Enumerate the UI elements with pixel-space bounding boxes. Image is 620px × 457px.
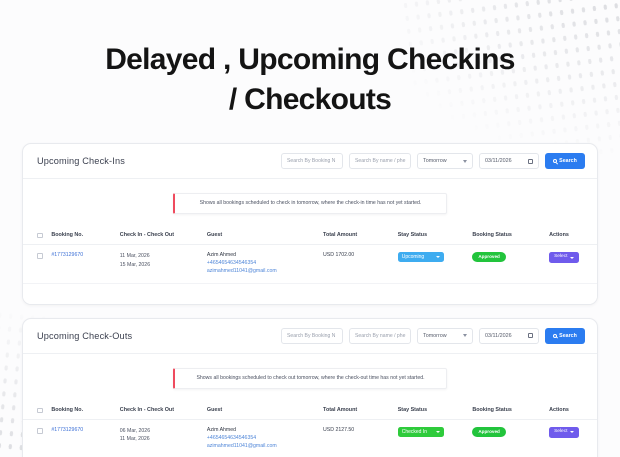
cell-booking-status: Approved	[468, 245, 545, 283]
calendar-icon	[528, 333, 533, 338]
card-footer	[23, 284, 597, 304]
search-name-input[interactable]: Search By name / phe	[349, 328, 411, 344]
card-header: Upcoming Check-Outs Search By Booking N …	[23, 319, 597, 354]
table-row: #1773129670 06 Mar, 2026 11 Mar, 2026 Az…	[23, 420, 597, 457]
table-head: Booking No. Check In - Check Out Guest T…	[23, 401, 597, 420]
info-note: Shows all bookings scheduled to check in…	[173, 193, 447, 214]
note-wrapper: Shows all bookings scheduled to check ou…	[23, 354, 597, 401]
calendar-icon	[528, 159, 533, 164]
cell-stay-status: Upcoming	[394, 245, 469, 283]
column-booking-status: Booking Status	[468, 226, 545, 245]
range-select[interactable]: Tomorrow	[417, 328, 473, 344]
cell-booking-no: #1773129670	[47, 245, 115, 283]
guest-name: Azim Ahmed	[207, 427, 315, 435]
bookings-table: Booking No. Check In - Check Out Guest T…	[23, 401, 597, 457]
guest-email[interactable]: azimahmed11041@gmail.com	[207, 268, 315, 276]
cell-guest: Azim Ahmed +4654654634546354 azimahmed11…	[203, 245, 319, 283]
date-input-value: 03/11/2026	[485, 333, 512, 339]
status-badge: Approved	[472, 427, 505, 437]
column-booking-status: Booking Status	[468, 401, 545, 420]
info-note: Shows all bookings scheduled to check ou…	[173, 368, 447, 389]
table-header-row: Booking No. Check In - Check Out Guest T…	[23, 226, 597, 245]
select-all-header	[23, 226, 47, 245]
stay-status-select[interactable]: Upcoming	[398, 252, 444, 262]
cell-dates: 11 Mar, 2026 15 Mar, 2026	[116, 245, 203, 283]
actions-select-label: Select	[554, 430, 567, 435]
row-checkbox[interactable]	[37, 253, 43, 259]
search-button[interactable]: Search	[545, 328, 585, 344]
column-stay-status: Stay Status	[394, 401, 469, 420]
row-select-cell	[23, 420, 47, 457]
chevron-down-icon	[436, 256, 440, 258]
booking-no-link[interactable]: #1773129670	[51, 427, 83, 433]
check-in-date: 06 Mar, 2026	[120, 427, 199, 435]
table-row: #1773129670 11 Mar, 2026 15 Mar, 2026 Az…	[23, 245, 597, 283]
select-all-checkbox[interactable]	[37, 408, 43, 414]
column-guest: Guest	[203, 226, 319, 245]
cell-actions: Select	[545, 420, 597, 457]
card-title: Upcoming Check-Outs	[37, 331, 132, 341]
column-actions: Actions	[545, 226, 597, 245]
row-select-cell	[23, 245, 47, 283]
select-all-header	[23, 401, 47, 420]
cell-total-amount: USD 2127.50	[319, 420, 394, 457]
stay-status-label: Upcoming	[402, 255, 425, 260]
card-upcoming-check-outs: Upcoming Check-Outs Search By Booking N …	[22, 318, 598, 457]
search-button[interactable]: Search	[545, 153, 585, 169]
search-button-label: Search	[559, 158, 577, 164]
range-select[interactable]: Tomorrow	[417, 153, 473, 169]
hero-section: Delayed , Upcoming Checkins / Checkouts	[0, 0, 620, 129]
chevron-down-icon	[436, 431, 440, 433]
column-booking-no: Booking No.	[47, 226, 115, 245]
card-toolbar: Search By Booking N Search By name / phe…	[281, 328, 585, 344]
range-select-value: Tomorrow	[423, 333, 447, 339]
column-total-amount: Total Amount	[319, 226, 394, 245]
guest-name: Azim Ahmed	[207, 252, 315, 260]
search-booking-input[interactable]: Search By Booking N	[281, 153, 343, 169]
cell-dates: 06 Mar, 2026 11 Mar, 2026	[116, 420, 203, 457]
column-guest: Guest	[203, 401, 319, 420]
search-booking-placeholder: Search By Booking N	[287, 333, 335, 339]
status-badge: Approved	[472, 252, 505, 262]
check-in-date: 11 Mar, 2026	[120, 252, 199, 260]
column-booking-no: Booking No.	[47, 401, 115, 420]
actions-select-button[interactable]: Select	[549, 427, 579, 438]
column-actions: Actions	[545, 401, 597, 420]
cell-actions: Select	[545, 245, 597, 283]
card-header: Upcoming Check-Ins Search By Booking N S…	[23, 144, 597, 179]
table-body: #1773129670 06 Mar, 2026 11 Mar, 2026 Az…	[23, 420, 597, 457]
column-total-amount: Total Amount	[319, 401, 394, 420]
bookings-table: Booking No. Check In - Check Out Guest T…	[23, 226, 597, 284]
chevron-down-icon	[463, 334, 467, 337]
date-input[interactable]: 03/11/2026	[479, 153, 539, 169]
actions-select-button[interactable]: Select	[549, 252, 579, 263]
cell-guest: Azim Ahmed +4654654634546354 azimahmed11…	[203, 420, 319, 457]
guest-phone[interactable]: +4654654634546354	[207, 260, 315, 268]
card-title: Upcoming Check-Ins	[37, 156, 125, 166]
chevron-down-icon	[570, 257, 574, 259]
card-upcoming-check-ins: Upcoming Check-Ins Search By Booking N S…	[22, 143, 598, 305]
cell-booking-status: Approved	[468, 420, 545, 457]
chevron-down-icon	[463, 160, 467, 163]
card-toolbar: Search By Booking N Search By name / phe…	[281, 153, 585, 169]
stay-status-label: Checked In	[402, 430, 427, 435]
search-button-label: Search	[559, 333, 577, 339]
search-icon	[553, 334, 557, 338]
guest-email[interactable]: azimahmed11041@gmail.com	[207, 443, 315, 451]
page-title-line-1: Delayed , Upcoming Checkins	[105, 43, 515, 76]
range-select-value: Tomorrow	[423, 158, 447, 164]
cell-stay-status: Checked In	[394, 420, 469, 457]
cell-total-amount: USD 1702.00	[319, 245, 394, 283]
column-checkin-checkout: Check In - Check Out	[116, 226, 203, 245]
date-input[interactable]: 03/11/2026	[479, 328, 539, 344]
page-root: Delayed , Upcoming Checkins / Checkouts …	[0, 0, 620, 457]
stay-status-select[interactable]: Checked In	[398, 427, 444, 437]
date-input-value: 03/11/2026	[485, 158, 512, 164]
table-header-row: Booking No. Check In - Check Out Guest T…	[23, 401, 597, 420]
column-checkin-checkout: Check In - Check Out	[116, 401, 203, 420]
page-title-line-2: / Checkouts	[229, 83, 391, 116]
table-head: Booking No. Check In - Check Out Guest T…	[23, 226, 597, 245]
page-title: Delayed , Upcoming Checkins / Checkouts	[60, 40, 560, 119]
search-booking-placeholder: Search By Booking N	[287, 158, 335, 164]
check-out-date: 11 Mar, 2026	[120, 435, 199, 443]
row-checkbox[interactable]	[37, 428, 43, 434]
column-stay-status: Stay Status	[394, 226, 469, 245]
guest-phone[interactable]: +4654654634546354	[207, 435, 315, 443]
search-name-input[interactable]: Search By name / phe	[349, 153, 411, 169]
cards-container: Upcoming Check-Ins Search By Booking N S…	[0, 129, 620, 457]
search-icon	[553, 159, 557, 163]
cell-booking-no: #1773129670	[47, 420, 115, 457]
search-name-placeholder: Search By name / phe	[355, 333, 405, 339]
check-out-date: 15 Mar, 2026	[120, 261, 199, 269]
select-all-checkbox[interactable]	[37, 233, 43, 239]
search-booking-input[interactable]: Search By Booking N	[281, 328, 343, 344]
booking-no-link[interactable]: #1773129670	[51, 252, 83, 258]
chevron-down-icon	[570, 431, 574, 433]
table-body: #1773129670 11 Mar, 2026 15 Mar, 2026 Az…	[23, 245, 597, 283]
note-wrapper: Shows all bookings scheduled to check in…	[23, 179, 597, 226]
search-name-placeholder: Search By name / phe	[355, 158, 405, 164]
actions-select-label: Select	[554, 255, 567, 260]
